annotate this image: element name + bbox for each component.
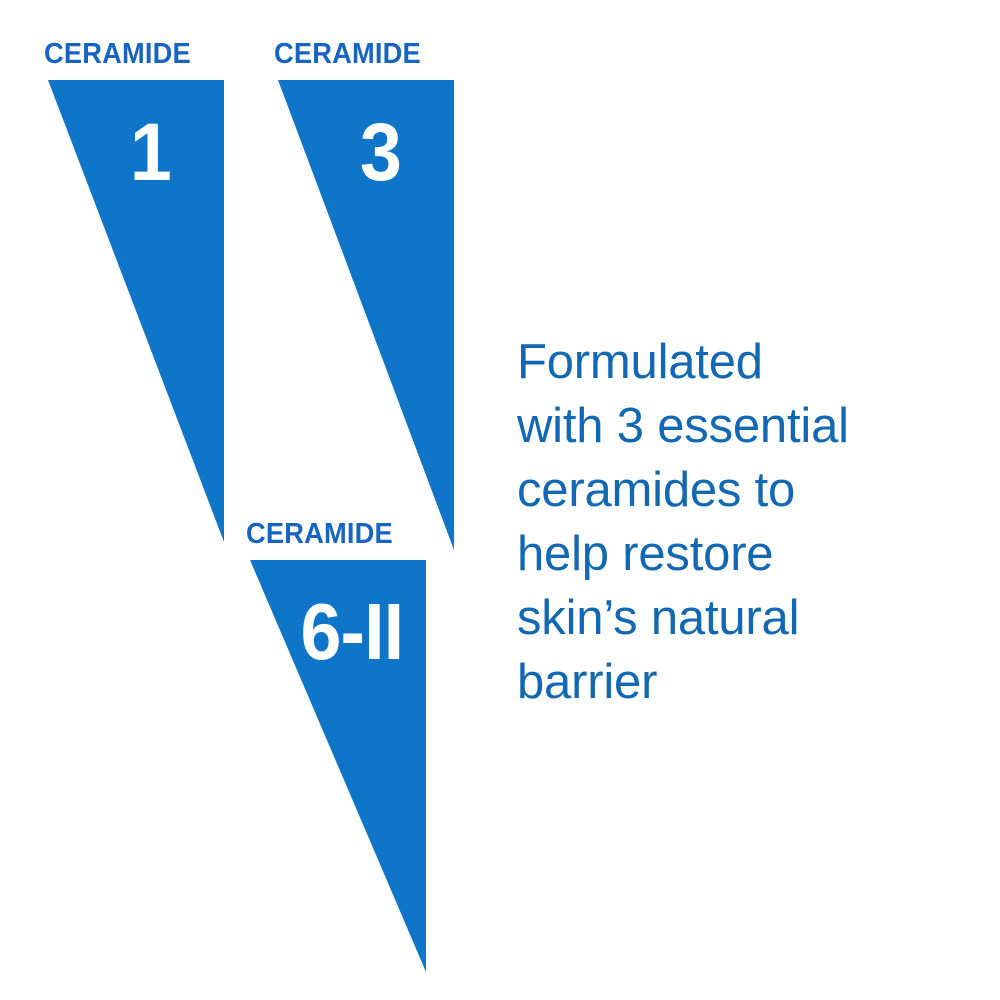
ceramide-3-label: CERAMIDE — [274, 40, 421, 69]
copy-line: Formulated — [517, 330, 957, 394]
copy-line: help restore — [517, 522, 957, 586]
benefit-copy-block: Formulated with 3 essential ceramides to… — [517, 330, 957, 714]
copy-line: with 3 essential — [517, 394, 957, 458]
ceramide-6ii-label: CERAMIDE — [246, 520, 393, 549]
ceramide-6ii-number: 6-II — [300, 592, 403, 672]
ceramide-3-number: 3 — [360, 112, 402, 194]
copy-line: barrier — [517, 650, 957, 714]
copy-line: ceramides to — [517, 458, 957, 522]
ceramide-1-number: 1 — [130, 112, 172, 194]
infographic-canvas: CERAMIDE 1 CERAMIDE 3 CERAMIDE 6-II Form… — [0, 0, 1000, 1000]
ceramide-1-label: CERAMIDE — [44, 40, 191, 69]
copy-line: skin’s natural — [517, 586, 957, 650]
